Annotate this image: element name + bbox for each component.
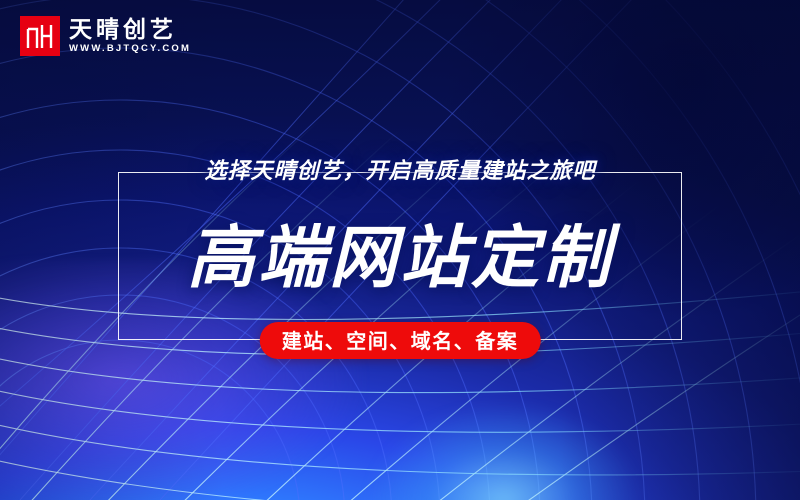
brand-logo[interactable]: 天晴创艺 WWW.BJTQCY.COM xyxy=(20,16,191,56)
promo-banner: 天晴创艺 WWW.BJTQCY.COM 选择天晴创艺，开启高质量建站之旅吧 高端… xyxy=(0,0,800,500)
logo-brand-name: 天晴创艺 xyxy=(69,19,191,42)
services-pill-label: 建站、空间、域名、备案 xyxy=(260,331,541,351)
hero-tagline: 选择天晴创艺，开启高质量建站之旅吧 xyxy=(0,152,800,192)
logo-text-block: 天晴创艺 WWW.BJTQCY.COM xyxy=(69,19,191,54)
hero-tagline-text: 选择天晴创艺，开启高质量建站之旅吧 xyxy=(188,152,611,192)
logo-mark-icon xyxy=(20,16,60,56)
logo-website-url: WWW.BJTQCY.COM xyxy=(69,44,191,54)
hero-headline-text: 高端网站定制 xyxy=(187,219,613,298)
hero-headline: 高端网站定制 xyxy=(0,214,800,304)
services-pill-button[interactable]: 建站、空间、域名、备案 xyxy=(260,322,541,359)
